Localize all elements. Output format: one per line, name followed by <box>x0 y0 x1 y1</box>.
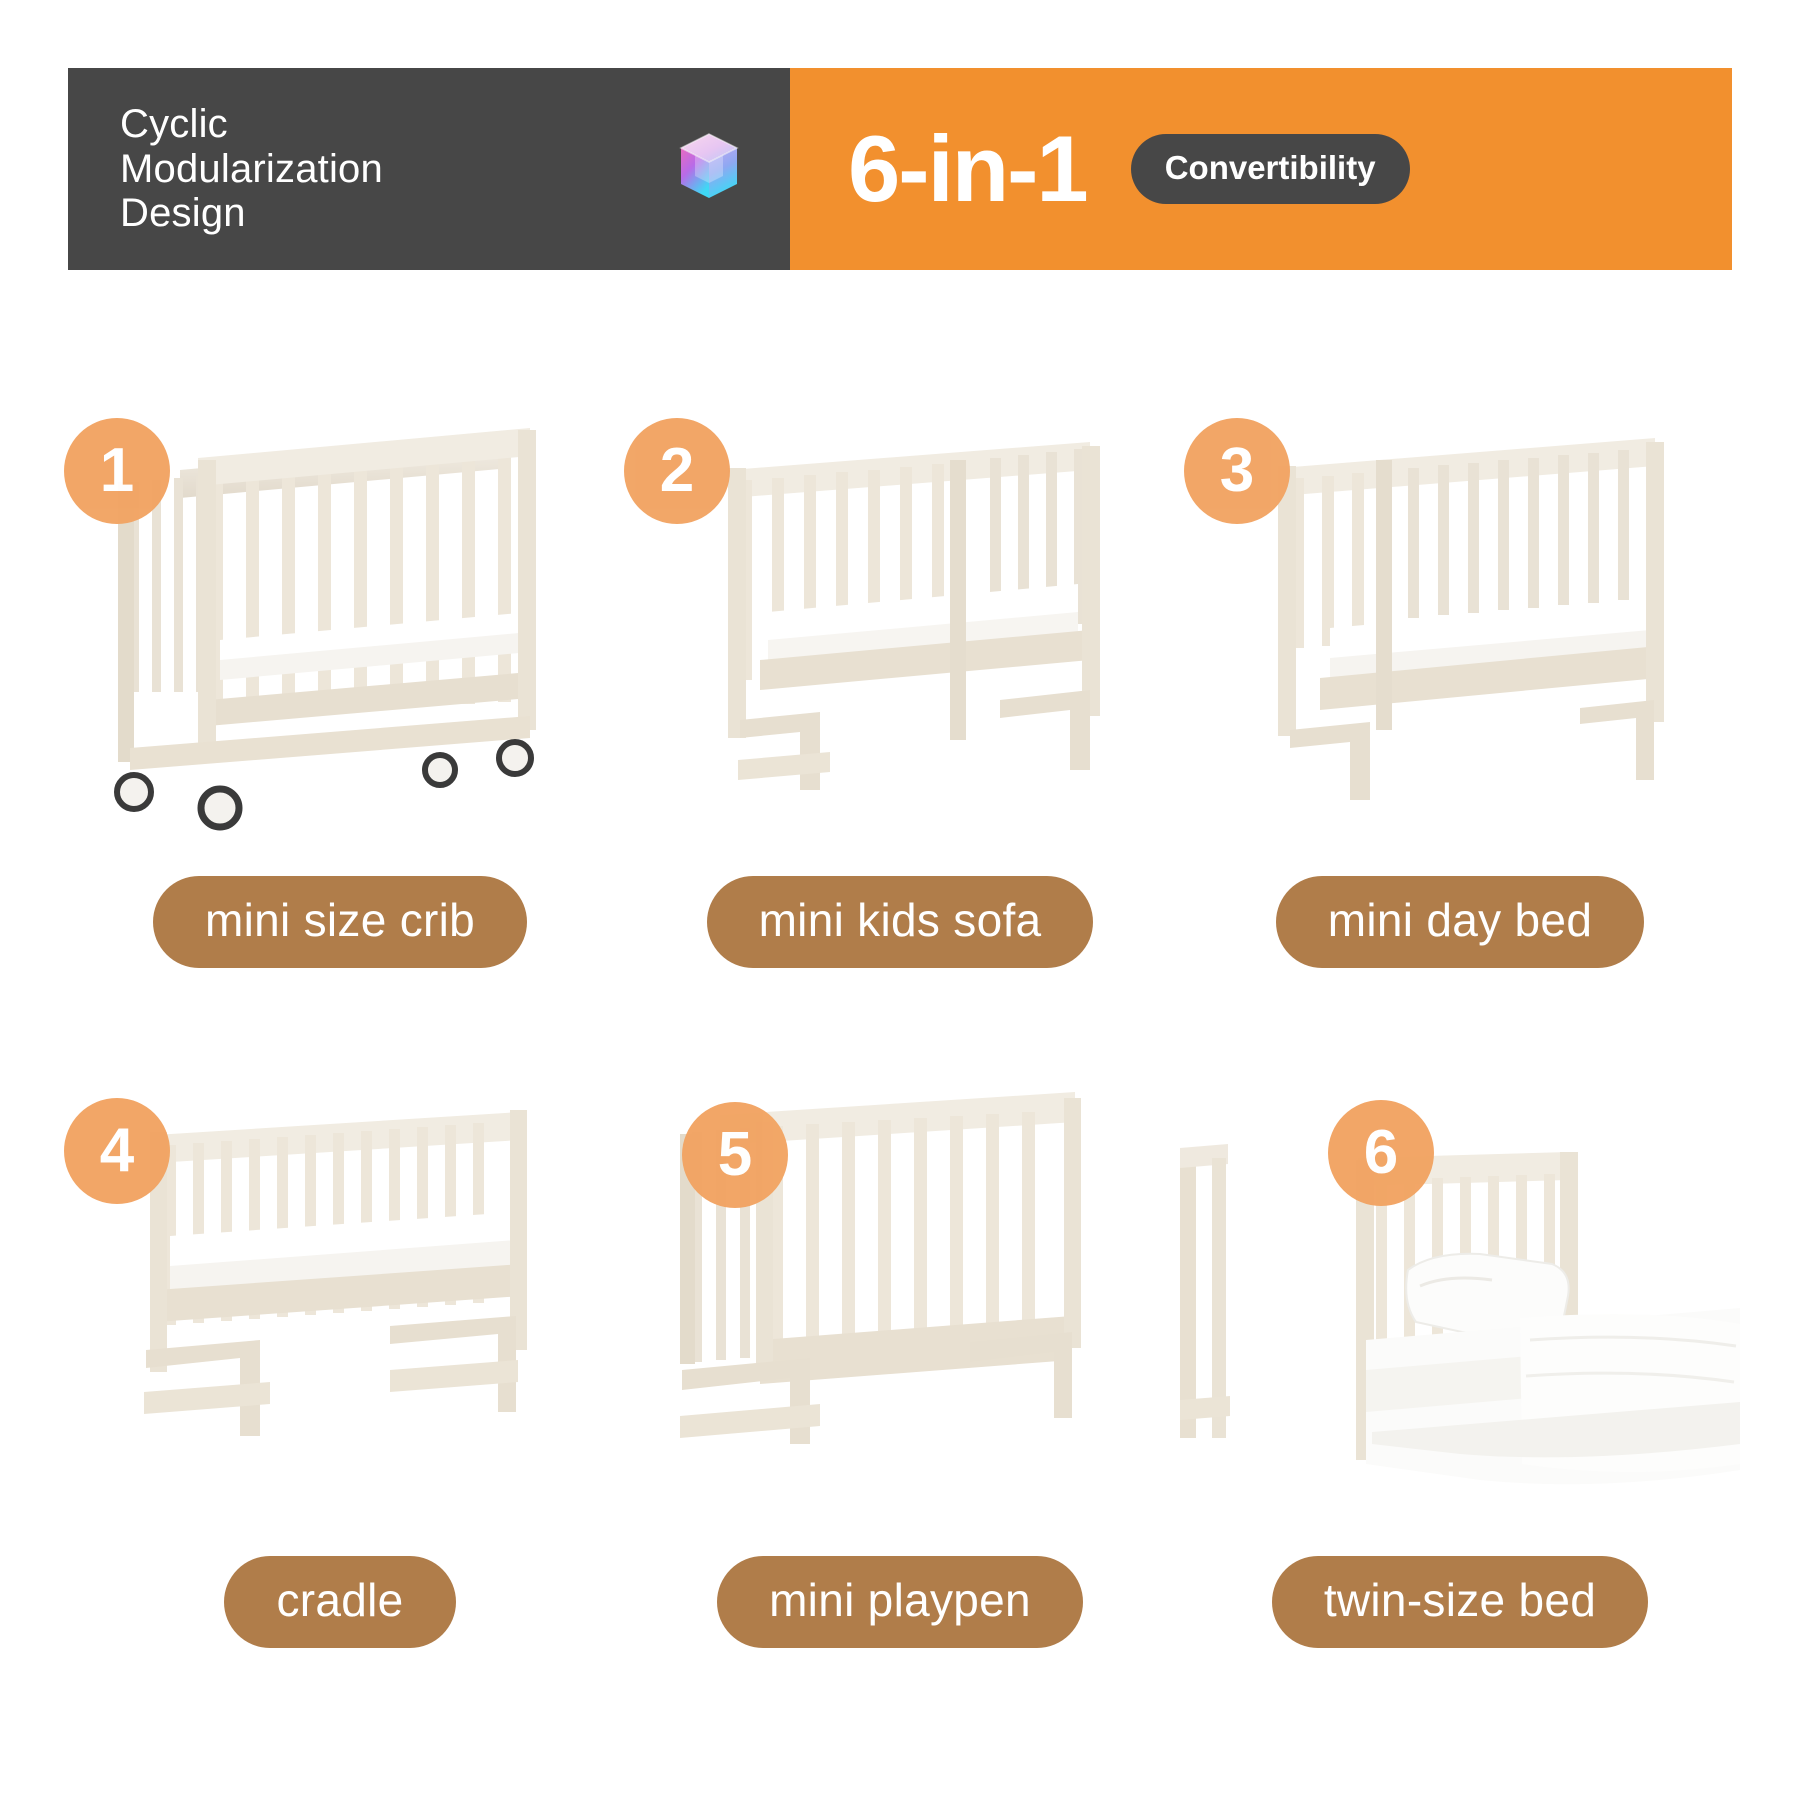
product-photo-5: 5 <box>620 1040 1180 1550</box>
product-photo-6: 6 <box>1180 1040 1740 1550</box>
product-photo-1: 1 <box>60 360 620 870</box>
grid-item-3: 3 mini day bed <box>1180 360 1740 1020</box>
product-label-3: mini day bed <box>1276 876 1644 968</box>
product-grid: 1 mini size crib <box>60 360 1740 1700</box>
number-badge-5: 5 <box>682 1102 788 1208</box>
product-photo-3: 3 <box>1180 360 1740 870</box>
infographic-page: Cyclic Modularization Design <box>0 0 1800 1800</box>
product-photo-4: 4 <box>60 1040 620 1550</box>
product-photo-2: 2 <box>620 360 1180 870</box>
number-badge-4: 4 <box>64 1098 170 1204</box>
product-label-1: mini size crib <box>153 876 527 968</box>
number-badge-2: 2 <box>624 418 730 524</box>
status-badge: Convertibility <box>1131 134 1410 204</box>
gradient-cube-icon <box>678 132 740 206</box>
grid-item-6: 6 twin-size bed <box>1180 1040 1740 1700</box>
page-title: Cyclic Modularization Design <box>120 102 383 236</box>
grid-item-5: 5 mini playpen <box>620 1040 1180 1700</box>
header-banner: Cyclic Modularization Design <box>68 68 1732 270</box>
header-left-panel: Cyclic Modularization Design <box>68 68 790 270</box>
number-badge-3: 3 <box>1184 418 1290 524</box>
grid-item-1: 1 mini size crib <box>60 360 620 1020</box>
product-label-5: mini playpen <box>717 1556 1083 1648</box>
product-label-2: mini kids sofa <box>707 876 1094 968</box>
number-badge-6: 6 <box>1328 1100 1434 1206</box>
grid-item-4: 4 cradle <box>60 1040 620 1700</box>
grid-item-2: 2 mini kids sofa <box>620 360 1180 1020</box>
product-label-4: cradle <box>224 1556 455 1648</box>
twin-size-bed-image <box>1180 1040 1740 1550</box>
number-badge-1: 1 <box>64 418 170 524</box>
header-right-panel: 6-in-1 Convertibility <box>790 68 1732 270</box>
product-label-6: twin-size bed <box>1272 1556 1648 1648</box>
convertibility-count: 6-in-1 <box>848 122 1087 216</box>
